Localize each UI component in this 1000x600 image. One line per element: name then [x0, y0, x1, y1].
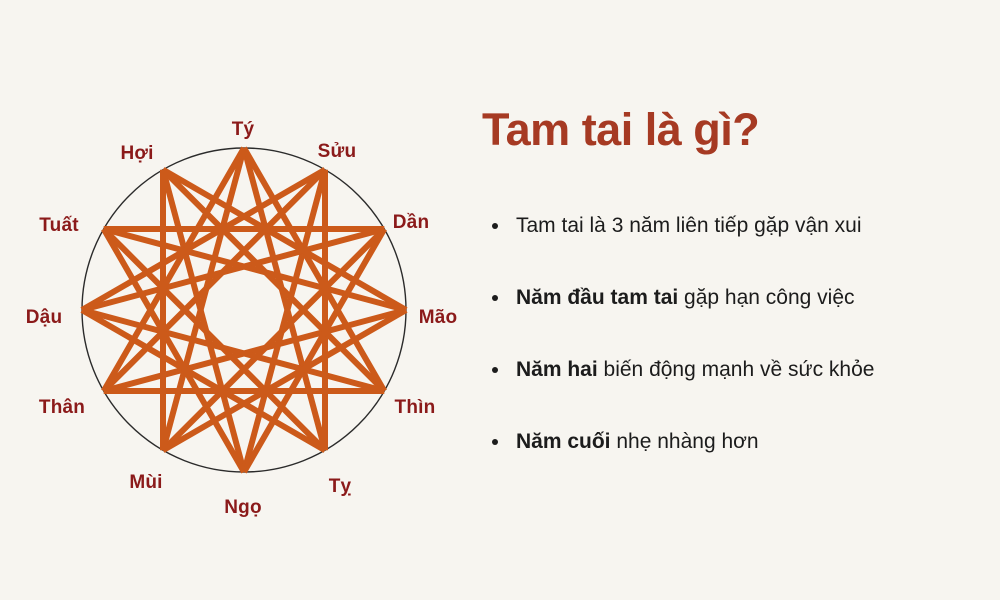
- zodiac-label-9: Dậu: [26, 307, 63, 329]
- bullet-dot-icon: [492, 223, 498, 229]
- bullet-text: nhẹ nhàng hơn: [611, 430, 759, 453]
- content-panel: Tam tai là gì? Tam tai là 3 năm liên tiế…: [470, 0, 1000, 600]
- zodiac-circle-outline: [82, 148, 406, 472]
- star-polygon-lines: [82, 148, 406, 472]
- infographic-page: TýSửuDầnMãoThìnTỵNgọMùiThânDậuTuấtHợi Ta…: [0, 0, 1000, 600]
- zodiac-label-5: Tỵ: [329, 476, 352, 498]
- zodiac-label-7: Mùi: [129, 472, 162, 494]
- bullet-text: gặp hạn công việc: [678, 286, 854, 309]
- zodiac-label-3: Mão: [419, 307, 458, 329]
- bullet-emphasis: Năm cuối: [516, 430, 611, 453]
- zodiac-label-11: Hợi: [120, 143, 153, 165]
- bullet-item: Năm đầu tam tai gặp hạn công việc: [482, 284, 992, 312]
- page-title: Tam tai là gì?: [482, 104, 759, 156]
- bullet-item: Năm cuối nhẹ nhàng hơn: [482, 428, 992, 456]
- zodiac-label-10: Tuất: [39, 215, 79, 237]
- zodiac-label-8: Thân: [39, 397, 85, 419]
- zodiac-diagram: TýSửuDầnMãoThìnTỵNgọMùiThânDậuTuấtHợi: [0, 0, 470, 600]
- zodiac-label-1: Sửu: [318, 141, 357, 163]
- bullet-list: Tam tai là 3 năm liên tiếp gặp vận xuiNă…: [482, 212, 992, 456]
- bullet-text: biến động mạnh về sức khỏe: [598, 358, 875, 381]
- bullet-item: Tam tai là 3 năm liên tiếp gặp vận xui: [482, 212, 992, 240]
- zodiac-label-4: Thìn: [395, 397, 436, 419]
- bullet-emphasis: Năm đầu tam tai: [516, 286, 678, 309]
- bullet-dot-icon: [492, 295, 498, 301]
- bullet-item: Năm hai biến động mạnh về sức khỏe: [482, 356, 992, 384]
- zodiac-label-0: Tý: [232, 119, 255, 141]
- zodiac-label-2: Dần: [393, 212, 430, 234]
- bullet-text: Tam tai là 3 năm liên tiếp gặp vận xui: [516, 214, 862, 237]
- bullet-dot-icon: [492, 439, 498, 445]
- zodiac-label-6: Ngọ: [224, 497, 262, 519]
- bullet-dot-icon: [492, 367, 498, 373]
- bullet-emphasis: Năm hai: [516, 358, 598, 381]
